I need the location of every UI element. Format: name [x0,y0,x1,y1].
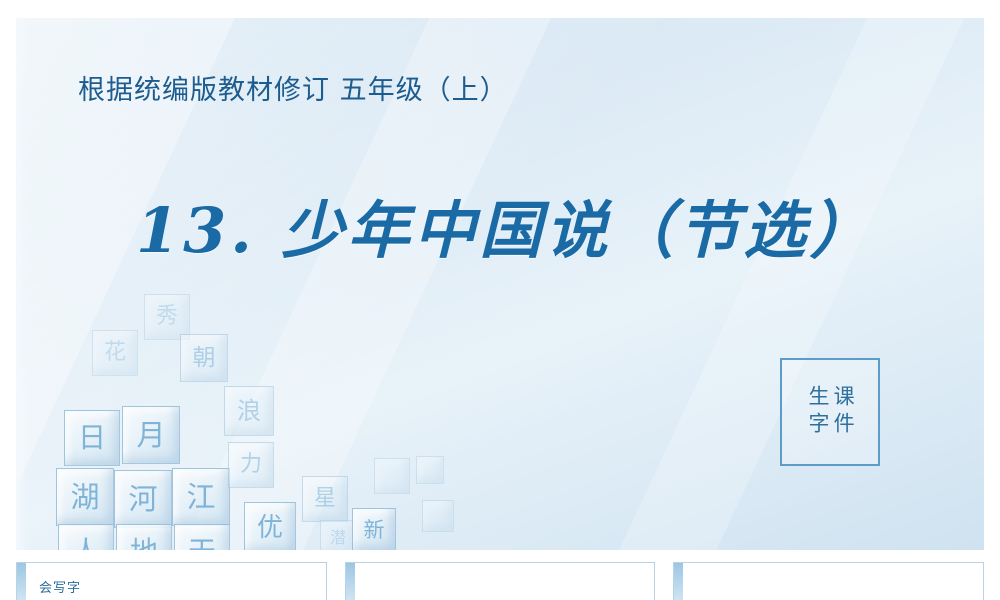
character-cube: 地 [116,524,172,550]
character-cube [374,458,410,494]
bottom-card-row: 会写字 [16,562,984,600]
character-cube: 天 [174,524,230,550]
bottom-card[interactable] [345,562,656,600]
presentation-slide: 根据统编版教材修订 五年级（上） 13. 少年中国说（节选） 日月湖河江人地天秀… [0,0,1000,600]
bottom-card[interactable]: 会写字 [16,562,327,600]
character-cube: 月 [122,406,180,464]
character-cube: 日 [64,410,120,466]
character-cube: 力 [228,442,274,488]
lesson-type-badge: 生字 课件 [780,358,880,466]
character-cube: 优 [244,502,296,550]
character-cube: 星 [302,476,348,522]
character-cube: 浪 [224,386,274,436]
subject-line: 根据统编版教材修订 五年级（上） [78,68,508,107]
decorative-character-cubes: 日月湖河江人地天秀花朝浪力优星潜新 [34,280,474,550]
character-cube: 潜 [320,520,356,550]
badge-column-1: 生字 [806,385,829,439]
character-cube: 江 [172,468,230,526]
slide-left-edge-highlight [16,18,30,550]
bottom-card[interactable] [673,562,984,600]
card-accent-bar [17,563,26,600]
character-cube: 新 [352,508,396,550]
card-accent-bar [346,563,355,600]
slide-panel: 根据统编版教材修订 五年级（上） 13. 少年中国说（节选） 日月湖河江人地天秀… [16,18,984,550]
page-title: 13. 少年中国说（节选） [136,180,956,270]
badge-column-2: 课件 [831,385,854,439]
character-cube [422,500,454,532]
character-cube: 河 [114,470,172,528]
character-cube: 花 [92,330,138,376]
character-cube: 人 [58,524,114,550]
card-accent-bar [674,563,683,600]
character-cube [416,456,444,484]
character-cube: 朝 [180,334,228,382]
character-cube: 湖 [56,468,114,526]
character-cube: 秀 [144,294,190,340]
card-label: 会写字 [39,577,81,596]
